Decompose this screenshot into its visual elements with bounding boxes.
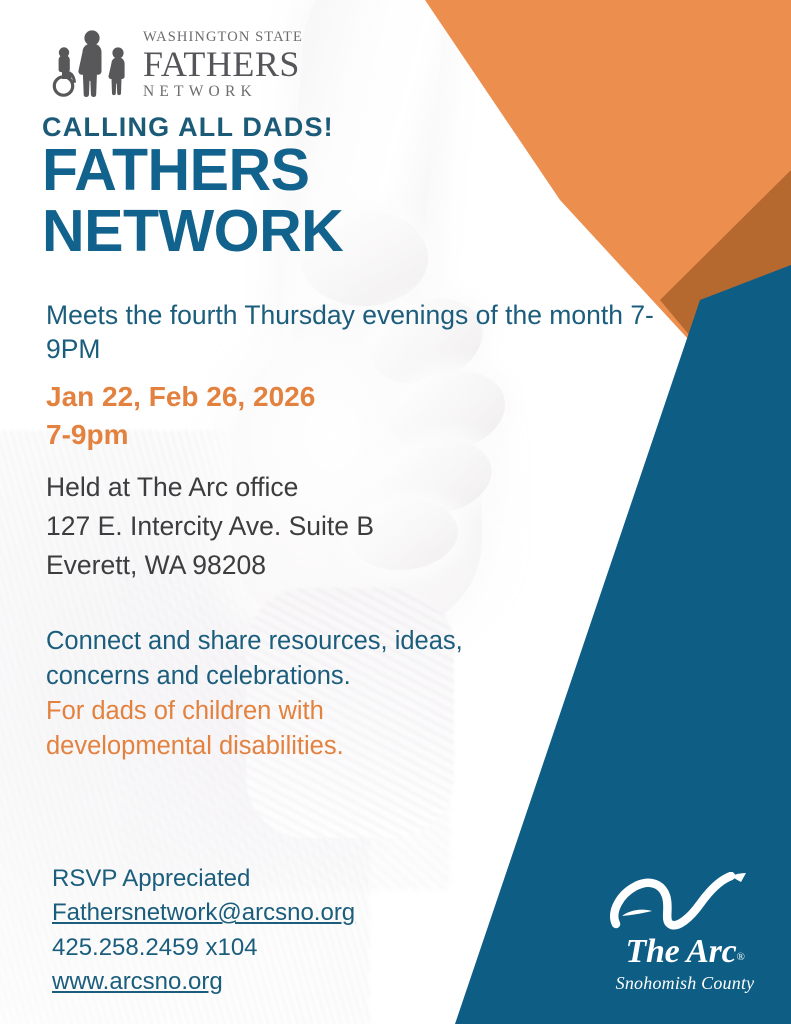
wsfn-logo: WASHINGTON STATE FATHERS NETWORK bbox=[52, 26, 303, 103]
description-block: Connect and share resources, ideas, conc… bbox=[46, 624, 646, 764]
wsfn-line-network: NETWORK bbox=[143, 84, 303, 100]
meeting-dates: Jan 22, Feb 26, 2026 bbox=[46, 378, 315, 416]
arc-logo-name-text: The Arc bbox=[626, 933, 737, 970]
rsvp-note: RSVP Appreciated bbox=[52, 862, 355, 896]
description-blue-line-1: Connect and share resources, ideas, bbox=[46, 624, 646, 659]
title-line-network: NETWORK bbox=[42, 201, 343, 262]
location-block: Held at The Arc office 127 E. Intercity … bbox=[46, 468, 374, 585]
flyer-page: WASHINGTON STATE FATHERS NETWORK CALLING… bbox=[0, 0, 791, 1024]
title-line-fathers: FATHERS bbox=[42, 140, 343, 201]
location-venue: Held at The Arc office bbox=[46, 468, 374, 507]
arc-logo-name: The Arc® bbox=[600, 935, 770, 969]
meeting-schedule: Meets the fourth Thursday evenings of th… bbox=[46, 298, 686, 367]
family-figures-icon bbox=[52, 26, 134, 103]
location-city-state-zip: Everett, WA 98208 bbox=[46, 546, 374, 585]
arc-logo-subtitle: Snohomish County bbox=[600, 973, 770, 994]
wsfn-line-fathers: FATHERS bbox=[143, 46, 303, 82]
wsfn-line-washington-state: WASHINGTON STATE bbox=[143, 30, 303, 45]
description-blue-line-2: concerns and celebrations. bbox=[46, 659, 646, 694]
location-street: 127 E. Intercity Ave. Suite B bbox=[46, 507, 374, 546]
website-link[interactable]: www.arcsno.org bbox=[52, 965, 355, 999]
the-arc-logo: The Arc® Snohomish County bbox=[600, 872, 770, 994]
meeting-dates-block: Jan 22, Feb 26, 2026 7-9pm bbox=[46, 378, 315, 454]
meeting-time: 7-9pm bbox=[46, 416, 315, 454]
page-title: FATHERS NETWORK bbox=[42, 140, 343, 263]
phone-number: 425.258.2459 x104 bbox=[52, 931, 355, 965]
arc-swoosh-icon bbox=[600, 872, 770, 937]
description-orange-line-2: developmental disabilities. bbox=[46, 729, 646, 764]
email-link[interactable]: Fathersnetwork@arcsno.org bbox=[52, 896, 355, 930]
wsfn-logo-text: WASHINGTON STATE FATHERS NETWORK bbox=[143, 30, 303, 99]
contact-block: RSVP Appreciated Fathersnetwork@arcsno.o… bbox=[52, 862, 355, 999]
description-orange-line-1: For dads of children with bbox=[46, 694, 646, 729]
registered-mark: ® bbox=[736, 951, 744, 963]
